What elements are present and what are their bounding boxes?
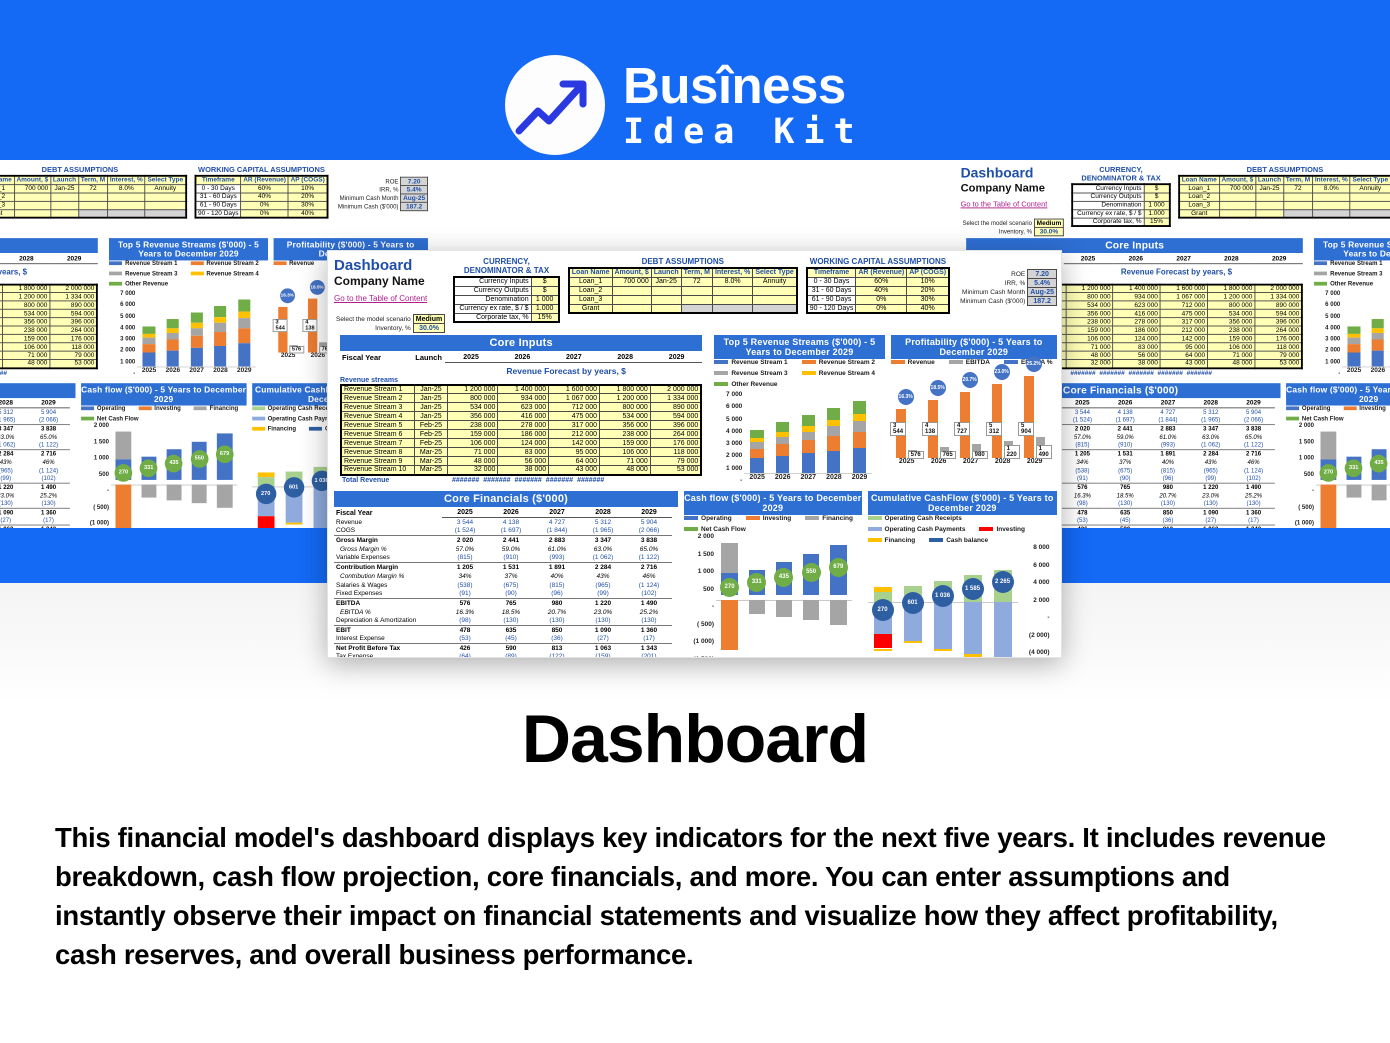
stream-value[interactable]: 594 000 xyxy=(50,309,97,317)
stream-value[interactable]: 238 000 xyxy=(1207,326,1254,334)
cell[interactable]: 8.0% xyxy=(108,184,146,192)
y-tick: 6 000 xyxy=(111,302,135,309)
stream-value[interactable]: 118 000 xyxy=(650,448,701,457)
cell[interactable]: Jan-25 xyxy=(51,184,79,192)
stream-value[interactable]: 623 000 xyxy=(498,403,549,412)
cell[interactable]: Loan_1 xyxy=(0,184,14,192)
cell[interactable]: 8.0% xyxy=(712,277,752,286)
cell[interactable] xyxy=(712,295,752,304)
stream-value[interactable]: 238 000 xyxy=(2,326,49,334)
stream-value[interactable]: 534 000 xyxy=(600,412,651,421)
growth-arrow-icon xyxy=(505,55,605,155)
stream-launch[interactable]: Mar-25 xyxy=(415,457,447,466)
stream-value[interactable]: 317 000 xyxy=(549,421,600,430)
cell[interactable]: Loan_2 xyxy=(569,286,612,295)
stream-value[interactable]: 934 000 xyxy=(1113,293,1160,301)
cell[interactable]: 0% xyxy=(856,295,907,304)
cell[interactable]: 10% xyxy=(907,277,949,286)
cell[interactable]: Annuity xyxy=(145,184,186,192)
cell[interactable] xyxy=(14,201,50,209)
cell[interactable]: Loan_1 xyxy=(1179,184,1219,192)
cell-value[interactable]: 15% xyxy=(531,313,559,322)
stream-launch[interactable]: Feb-25 xyxy=(415,439,447,448)
stream-value[interactable]: 48 000 xyxy=(2,359,49,367)
cell[interactable]: 8.0% xyxy=(1313,184,1351,192)
row-label: Contribution Margin % xyxy=(334,572,442,581)
cell[interactable]: 0% xyxy=(241,209,288,217)
stream-value[interactable]: 106 000 xyxy=(600,448,651,457)
cell[interactable] xyxy=(78,201,107,209)
cell[interactable]: 700 000 xyxy=(1219,184,1255,192)
stream-value[interactable]: 106 000 xyxy=(1207,343,1254,351)
stream-value[interactable]: 416 000 xyxy=(1113,309,1160,317)
cell[interactable]: 0 - 30 Days xyxy=(195,184,241,192)
stream-value[interactable]: 159 000 xyxy=(600,439,651,448)
stream-value[interactable]: 264 000 xyxy=(1255,326,1302,334)
cell[interactable]: Loan_3 xyxy=(1179,201,1219,209)
stream-launch[interactable]: Jan-25 xyxy=(415,412,447,421)
cell[interactable] xyxy=(14,209,50,217)
cell-label: Currency Inputs xyxy=(1072,184,1143,192)
stream-name[interactable]: Revenue Stream 2 xyxy=(341,394,415,403)
stream-value[interactable]: 176 000 xyxy=(1255,334,1302,342)
cell[interactable]: Loan_3 xyxy=(569,295,612,304)
stream-value[interactable]: 264 000 xyxy=(650,430,701,439)
row-value: 2 716 xyxy=(27,450,70,458)
stream-value[interactable]: 1 200 000 xyxy=(1066,284,1113,292)
cell[interactable] xyxy=(1219,209,1255,217)
cell-value[interactable]: $ xyxy=(1144,184,1170,192)
stream-value[interactable]: 142 000 xyxy=(1160,334,1207,342)
cell[interactable] xyxy=(612,286,651,295)
cell[interactable] xyxy=(14,193,50,201)
cell-value[interactable]: 1 000 xyxy=(531,295,559,304)
cell[interactable]: 700 000 xyxy=(14,184,50,192)
cell[interactable] xyxy=(145,201,186,209)
stream-value[interactable]: 106 000 xyxy=(1066,334,1113,342)
dashboard-heading: Dashboard xyxy=(961,166,1064,182)
stream-value[interactable]: 142 000 xyxy=(549,439,600,448)
stream-value[interactable]: 176 000 xyxy=(650,439,701,448)
stream-value[interactable]: 317 000 xyxy=(1160,318,1207,326)
stream-value[interactable]: 118 000 xyxy=(1255,343,1302,351)
stream-value[interactable]: 1 200 000 xyxy=(600,394,651,403)
stream-launch[interactable]: Feb-25 xyxy=(415,421,447,430)
bar-financing-neg xyxy=(217,485,232,508)
stream-value[interactable]: 48 000 xyxy=(447,457,498,466)
row-value: (90) xyxy=(488,590,534,599)
stream-name[interactable]: Revenue Stream 8 xyxy=(341,448,415,457)
y-tick: 2 000 xyxy=(83,422,109,429)
row-value: 1 063 xyxy=(580,644,626,653)
bar-column xyxy=(214,286,226,366)
cell-value[interactable]: 1.000 xyxy=(1144,209,1170,217)
stream-value[interactable]: 48 000 xyxy=(1207,359,1254,367)
stream-launch[interactable]: Feb-25 xyxy=(415,430,447,439)
debt-title: DEBT ASSUMPTIONS xyxy=(1178,166,1390,174)
financial-row: Revenue3 5444 1384 7275 3125 904 xyxy=(0,408,70,416)
legend-item: Revenue Stream 4 xyxy=(191,271,259,278)
cell-value[interactable]: 1 000 xyxy=(1144,201,1170,209)
stream-value[interactable]: 38 000 xyxy=(498,466,549,475)
cell[interactable] xyxy=(651,286,681,295)
row-value: 65.0% xyxy=(27,433,70,441)
cell[interactable] xyxy=(612,304,651,313)
y-tick: 1 000 xyxy=(716,465,742,472)
cell[interactable]: 40% xyxy=(241,193,288,201)
stream-value[interactable]: 1 600 000 xyxy=(1160,284,1207,292)
stream-value[interactable]: 396 000 xyxy=(1255,318,1302,326)
stream-name[interactable]: Revenue Stream 4 xyxy=(341,412,415,421)
stream-value[interactable]: 2 000 000 xyxy=(650,385,701,394)
stream-value[interactable]: 800 000 xyxy=(447,394,498,403)
cell[interactable] xyxy=(651,304,681,313)
stream-value[interactable]: 48 000 xyxy=(600,466,651,475)
stream-value[interactable]: 38 000 xyxy=(1113,359,1160,367)
stream-value[interactable]: 71 000 xyxy=(1066,343,1113,351)
cell[interactable] xyxy=(753,304,797,313)
cell[interactable] xyxy=(681,286,712,295)
stream-value[interactable]: 890 000 xyxy=(650,403,701,412)
stream-value[interactable]: 1 200 000 xyxy=(1207,293,1254,301)
cell[interactable]: 10% xyxy=(288,184,327,192)
financial-row: EBIT4786358501 0901 360 xyxy=(334,626,672,635)
stream-value[interactable]: 534 000 xyxy=(1066,301,1113,309)
stream-value[interactable]: 124 000 xyxy=(498,439,549,448)
stream-value[interactable]: 356 000 xyxy=(1207,318,1254,326)
cell[interactable]: 30% xyxy=(288,201,327,209)
cell[interactable] xyxy=(1283,209,1312,217)
stream-name[interactable]: Revenue Stream 7 xyxy=(341,439,415,448)
stream-value[interactable]: 416 000 xyxy=(498,412,549,421)
cell[interactable]: Loan_2 xyxy=(0,193,14,201)
stream-value[interactable]: 32 000 xyxy=(1066,359,1113,367)
stream-value[interactable]: 83 000 xyxy=(1113,343,1160,351)
row-value: 57.0% xyxy=(1061,433,1104,441)
stream-value[interactable]: 118 000 xyxy=(50,343,97,351)
stream-value[interactable]: 124 000 xyxy=(1113,334,1160,342)
cashflow-legend: OperatingInvestingFinancingNet Cash Flow xyxy=(1286,405,1390,422)
cash-balance-bubble: 270 xyxy=(255,483,275,503)
stream-name[interactable]: Revenue Stream 3 xyxy=(341,403,415,412)
cell[interactable] xyxy=(753,286,797,295)
cell[interactable] xyxy=(1283,193,1312,201)
stream-value[interactable]: 534 000 xyxy=(1207,309,1254,317)
cell[interactable]: Loan_1 xyxy=(569,277,612,286)
stream-value[interactable]: 95 000 xyxy=(549,448,600,457)
spreadsheet-panel-center[interactable]: Dashboard Company Name Go to the Table o… xyxy=(327,250,1062,658)
cell[interactable] xyxy=(681,295,712,304)
cell[interactable] xyxy=(78,209,107,217)
table-row: Currency ex rate, $ / $ 1.000 xyxy=(454,304,559,313)
stream-value[interactable]: 356 000 xyxy=(2,318,49,326)
cell[interactable]: 0% xyxy=(241,201,288,209)
cell[interactable] xyxy=(1256,193,1284,201)
cell[interactable]: 40% xyxy=(856,286,907,295)
stream-value[interactable]: 2 000 000 xyxy=(50,284,97,292)
stream-value[interactable]: 1 800 000 xyxy=(2,284,49,292)
stream-value[interactable]: 1 200 000 xyxy=(447,385,498,394)
cell[interactable] xyxy=(1219,201,1255,209)
cell[interactable]: Jan-25 xyxy=(1256,184,1284,192)
stream-value[interactable]: 159 000 xyxy=(1207,334,1254,342)
cell[interactable]: 31 - 60 Days xyxy=(807,286,856,295)
table-of-content-link[interactable]: Go to the Table of Content xyxy=(961,200,1048,208)
y-tick: - xyxy=(111,370,135,377)
table-of-content-link[interactable]: Go to the Table of Content xyxy=(334,294,427,303)
stream-value[interactable]: 934 000 xyxy=(498,394,549,403)
scenario-value[interactable]: Medium xyxy=(413,315,444,324)
cell[interactable] xyxy=(651,295,681,304)
row-value: (98) xyxy=(442,617,488,626)
cell[interactable]: Loan_3 xyxy=(0,201,14,209)
cell[interactable]: 31 - 60 Days xyxy=(195,193,241,201)
cell[interactable] xyxy=(1313,193,1351,201)
cell[interactable] xyxy=(108,193,146,201)
stream-name[interactable]: Revenue Stream 10 xyxy=(341,466,415,475)
kpi-value: 187.2 xyxy=(1028,297,1057,306)
stream-value[interactable]: 79 000 xyxy=(50,351,97,359)
stream-value[interactable]: 212 000 xyxy=(1160,326,1207,334)
stream-value[interactable]: 79 000 xyxy=(650,457,701,466)
stream-value[interactable]: 264 000 xyxy=(50,326,97,334)
cell[interactable] xyxy=(612,295,651,304)
stream-launch[interactable]: Jan-25 xyxy=(415,385,447,394)
stream-value[interactable]: 1 334 000 xyxy=(1255,293,1302,301)
stream-value[interactable]: 64 000 xyxy=(549,457,600,466)
cell[interactable]: Jan-25 xyxy=(651,277,681,286)
cell[interactable]: Annuity xyxy=(753,277,797,286)
total-value: ####### xyxy=(575,476,606,485)
stream-value[interactable]: 71 000 xyxy=(600,457,651,466)
stream-value[interactable]: 623 000 xyxy=(1113,301,1160,309)
stream-value[interactable]: 534 000 xyxy=(447,403,498,412)
stream-value[interactable]: 1 067 000 xyxy=(1160,293,1207,301)
cell[interactable] xyxy=(145,193,186,201)
cell[interactable] xyxy=(1313,209,1351,217)
row-value: 5 312 xyxy=(580,518,626,527)
cell[interactable] xyxy=(51,193,79,201)
cell[interactable] xyxy=(1219,193,1255,201)
stream-value[interactable]: 1 200 000 xyxy=(2,293,49,301)
row-value: (122) xyxy=(534,653,580,659)
stream-value[interactable]: 159 000 xyxy=(2,334,49,342)
cell[interactable] xyxy=(1313,201,1351,209)
cell-value[interactable]: $ xyxy=(531,277,559,286)
stream-value[interactable]: 43 000 xyxy=(1160,359,1207,367)
bar-group: 1 036 xyxy=(928,544,958,659)
stream-value[interactable]: 71 000 xyxy=(1207,351,1254,359)
stream-value[interactable]: 800 000 xyxy=(1207,301,1254,309)
cell[interactable] xyxy=(51,209,79,217)
legend-item: Revenue Stream 2 xyxy=(802,359,875,366)
stream-value[interactable]: 890 000 xyxy=(1255,301,1302,309)
cell[interactable]: 60% xyxy=(241,184,288,192)
cell-value[interactable]: $ xyxy=(531,286,559,295)
cell[interactable] xyxy=(1350,193,1390,201)
stream-value[interactable]: 238 000 xyxy=(447,421,498,430)
stream-value[interactable]: 712 000 xyxy=(1160,301,1207,309)
stream-value[interactable]: 64 000 xyxy=(1160,351,1207,359)
cell[interactable]: 0 - 30 Days xyxy=(807,277,856,286)
stream-value[interactable]: 159 000 xyxy=(447,430,498,439)
cell[interactable]: Grant xyxy=(569,304,612,313)
stream-value[interactable]: 356 000 xyxy=(447,412,498,421)
stream-launch[interactable]: Mar-25 xyxy=(415,466,447,475)
stream-value[interactable]: 475 000 xyxy=(1160,309,1207,317)
stream-launch[interactable]: Jan-25 xyxy=(415,403,447,412)
stream-value[interactable]: 56 000 xyxy=(1113,351,1160,359)
table-row: Inventory, % 30.0% xyxy=(334,324,445,333)
cell[interactable]: 61 - 90 Days xyxy=(807,295,856,304)
stream-value[interactable]: 106 000 xyxy=(447,439,498,448)
bar-revenue: 3 544 xyxy=(278,307,287,353)
row-value: 37% xyxy=(1104,458,1147,466)
cell[interactable]: Grant xyxy=(0,209,14,217)
stream-value[interactable]: 238 000 xyxy=(1066,318,1113,326)
stream-value[interactable]: 278 000 xyxy=(1113,318,1160,326)
stream-value[interactable]: 95 000 xyxy=(1160,343,1207,351)
stream-value[interactable]: 71 000 xyxy=(2,351,49,359)
cell-label: Denomination xyxy=(1072,201,1143,209)
cell[interactable]: 0% xyxy=(856,304,907,313)
stream-value[interactable]: 534 000 xyxy=(2,309,49,317)
cell[interactable] xyxy=(145,209,186,217)
legend-item: Net Cash Flow xyxy=(684,526,746,533)
stream-value[interactable]: 71 000 xyxy=(447,448,498,457)
stream-value[interactable]: 594 000 xyxy=(1255,309,1302,317)
stream-value[interactable]: 32 000 xyxy=(447,466,498,475)
cell[interactable]: 40% xyxy=(907,304,949,313)
stream-value[interactable]: 53 000 xyxy=(50,359,97,367)
bar-segment xyxy=(750,449,763,459)
cell[interactable] xyxy=(1256,201,1284,209)
inventory-value[interactable]: 30.0% xyxy=(1034,227,1063,235)
stream-launch[interactable]: Mar-25 xyxy=(415,448,447,457)
cell-value[interactable]: $ xyxy=(1144,193,1170,201)
cell[interactable] xyxy=(1350,201,1390,209)
stream-value[interactable]: 48 000 xyxy=(1066,351,1113,359)
cashflow-section: Cash flow ($'000) - 5 Years to December … xyxy=(684,491,862,659)
revenue-stream-row: Revenue Stream 4 Jan-25356 000416 000475… xyxy=(0,309,97,317)
cell[interactable] xyxy=(1350,209,1390,217)
stream-value[interactable]: 1 600 000 xyxy=(549,385,600,394)
cell[interactable]: 30% xyxy=(907,295,949,304)
cell[interactable] xyxy=(1283,201,1312,209)
cell[interactable]: Annuity xyxy=(1350,184,1390,192)
inventory-value[interactable]: 30.0% xyxy=(413,324,444,333)
cell[interactable]: Loan_2 xyxy=(1179,193,1219,201)
cell[interactable]: 20% xyxy=(288,193,327,201)
scenario-value[interactable]: Medium xyxy=(1034,219,1063,227)
row-value: 63.0% xyxy=(1189,433,1232,441)
stream-value[interactable]: 1 800 000 xyxy=(1207,284,1254,292)
cell[interactable] xyxy=(1256,209,1284,217)
cell-value[interactable]: 1.000 xyxy=(531,304,559,313)
cell[interactable]: 61 - 90 Days xyxy=(195,201,241,209)
stream-value[interactable]: 53 000 xyxy=(1255,359,1302,367)
y-tick: 2 000 xyxy=(716,452,742,459)
cell[interactable]: 90 - 120 Days xyxy=(807,304,856,313)
row-value: 1 360 xyxy=(1232,508,1275,516)
cell[interactable]: 72 xyxy=(681,277,712,286)
stream-value[interactable]: 238 000 xyxy=(600,430,651,439)
cell[interactable]: 90 - 120 Days xyxy=(195,209,241,217)
cell[interactable] xyxy=(712,304,752,313)
cell[interactable]: 700 000 xyxy=(612,277,651,286)
stream-value[interactable]: 106 000 xyxy=(2,343,49,351)
cell[interactable]: 72 xyxy=(1283,184,1312,192)
stream-value[interactable]: 1 334 000 xyxy=(650,394,701,403)
stream-value[interactable]: 356 000 xyxy=(1066,309,1113,317)
cell-value[interactable]: 15% xyxy=(1144,218,1170,226)
stream-name[interactable]: Revenue Stream 5 xyxy=(341,421,415,430)
stream-value[interactable]: 186 000 xyxy=(1113,326,1160,334)
stream-launch[interactable]: Jan-25 xyxy=(415,394,447,403)
stream-value[interactable]: 56 000 xyxy=(498,457,549,466)
stream-value[interactable]: 278 000 xyxy=(498,421,549,430)
bar-group: 2 265 xyxy=(988,544,1018,659)
cell[interactable] xyxy=(753,295,797,304)
stream-value[interactable]: 1 067 000 xyxy=(549,394,600,403)
cell[interactable] xyxy=(78,193,107,201)
cell[interactable] xyxy=(712,286,752,295)
row-value: 18.5% xyxy=(1104,492,1147,500)
stream-value[interactable]: 159 000 xyxy=(1066,326,1113,334)
stream-value[interactable]: 712 000 xyxy=(549,403,600,412)
stream-value[interactable]: 53 000 xyxy=(650,466,701,475)
cell[interactable]: Grant xyxy=(1179,209,1219,217)
stream-value[interactable]: 1 334 000 xyxy=(50,293,97,301)
stream-value[interactable]: 1 400 000 xyxy=(498,385,549,394)
bar-value-label: 1 220 xyxy=(1004,445,1020,459)
net-cash-flow-bubble: 679 xyxy=(829,558,848,577)
stream-value[interactable]: 79 000 xyxy=(1255,351,1302,359)
stream-value[interactable]: 396 000 xyxy=(650,421,701,430)
stream-value[interactable]: 800 000 xyxy=(2,301,49,309)
stream-value[interactable]: 212 000 xyxy=(549,430,600,439)
stream-value[interactable]: 43 000 xyxy=(549,466,600,475)
stream-name[interactable]: Revenue Stream 6 xyxy=(341,430,415,439)
stream-value[interactable]: 186 000 xyxy=(498,430,549,439)
cell[interactable] xyxy=(681,304,712,313)
bar-value-label: 4 138 xyxy=(922,422,938,436)
stream-name[interactable]: Revenue Stream 9 xyxy=(341,457,415,466)
cell[interactable] xyxy=(108,201,146,209)
stream-name[interactable]: Revenue Stream 1 xyxy=(341,385,415,394)
row-value: (1 524) xyxy=(1061,416,1104,424)
cell[interactable]: 40% xyxy=(288,209,327,217)
stream-value[interactable]: 176 000 xyxy=(50,334,97,342)
cell[interactable]: 72 xyxy=(78,184,107,192)
cell[interactable]: 20% xyxy=(907,286,949,295)
stream-value[interactable]: 356 000 xyxy=(600,421,651,430)
stream-value[interactable]: 2 000 000 xyxy=(1255,284,1302,292)
cell[interactable]: 60% xyxy=(856,277,907,286)
stream-value[interactable]: 800 000 xyxy=(600,403,651,412)
row-value: 34% xyxy=(1061,458,1104,466)
stream-value[interactable]: 594 000 xyxy=(650,412,701,421)
stream-value[interactable]: 890 000 xyxy=(50,301,97,309)
stream-value[interactable]: 1 400 000 xyxy=(1113,284,1160,292)
stream-value[interactable]: 83 000 xyxy=(498,448,549,457)
cell[interactable] xyxy=(108,209,146,217)
stream-value[interactable]: 800 000 xyxy=(1066,293,1113,301)
stream-value[interactable]: 1 800 000 xyxy=(600,385,651,394)
stream-value[interactable]: 396 000 xyxy=(50,318,97,326)
stream-value[interactable]: 475 000 xyxy=(549,412,600,421)
cell[interactable] xyxy=(51,201,79,209)
